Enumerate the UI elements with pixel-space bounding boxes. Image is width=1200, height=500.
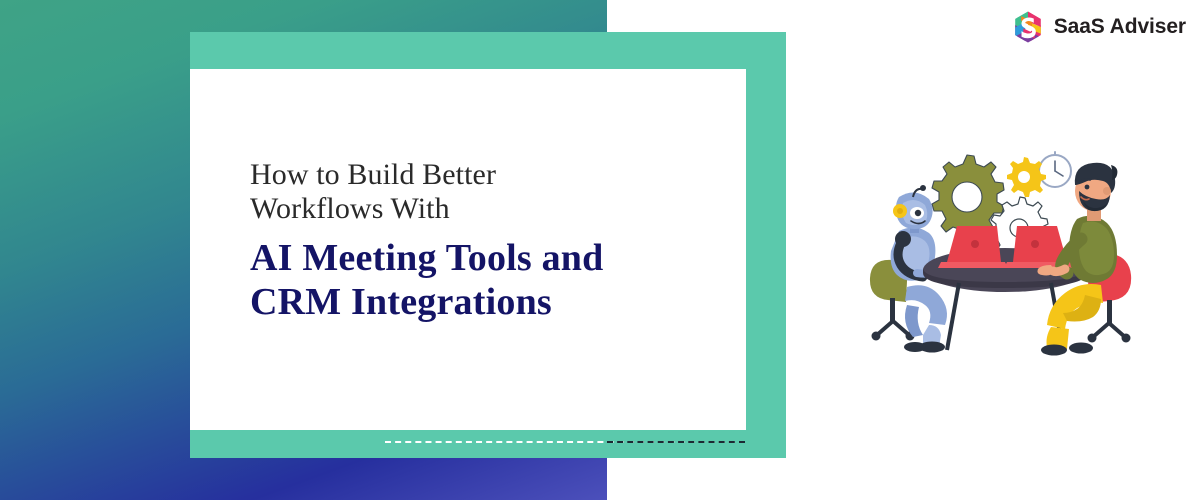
headline-subtitle-line-2: Workflows With [250, 192, 720, 226]
accent-block-bottom [190, 430, 786, 458]
small-gear-icon [1007, 157, 1046, 197]
headline-subtitle-line-1: How to Build Better [250, 158, 720, 192]
large-gear-icon [932, 155, 1004, 238]
headline-block: How to Build Better Workflows With AI Me… [250, 158, 720, 324]
wall-clock-icon [1039, 152, 1071, 187]
brand-logo-text: SaaS Adviser [1054, 15, 1186, 39]
banner-root: How to Build Better Workflows With AI Me… [0, 0, 1200, 500]
robot-and-human-at-table-illustration [855, 135, 1155, 360]
headline-title-line-2: CRM Integrations [250, 280, 720, 324]
dashed-rule-dark [607, 441, 745, 443]
saas-adviser-hexagon-s-logo-icon [1011, 10, 1045, 44]
headline-title: AI Meeting Tools and CRM Integrations [250, 236, 720, 324]
brand-logo[interactable]: SaaS Adviser [1011, 10, 1186, 44]
headline-subtitle: How to Build Better Workflows With [250, 158, 720, 226]
red-laptop-left [938, 226, 1008, 268]
headline-title-line-1: AI Meeting Tools and [250, 236, 720, 280]
